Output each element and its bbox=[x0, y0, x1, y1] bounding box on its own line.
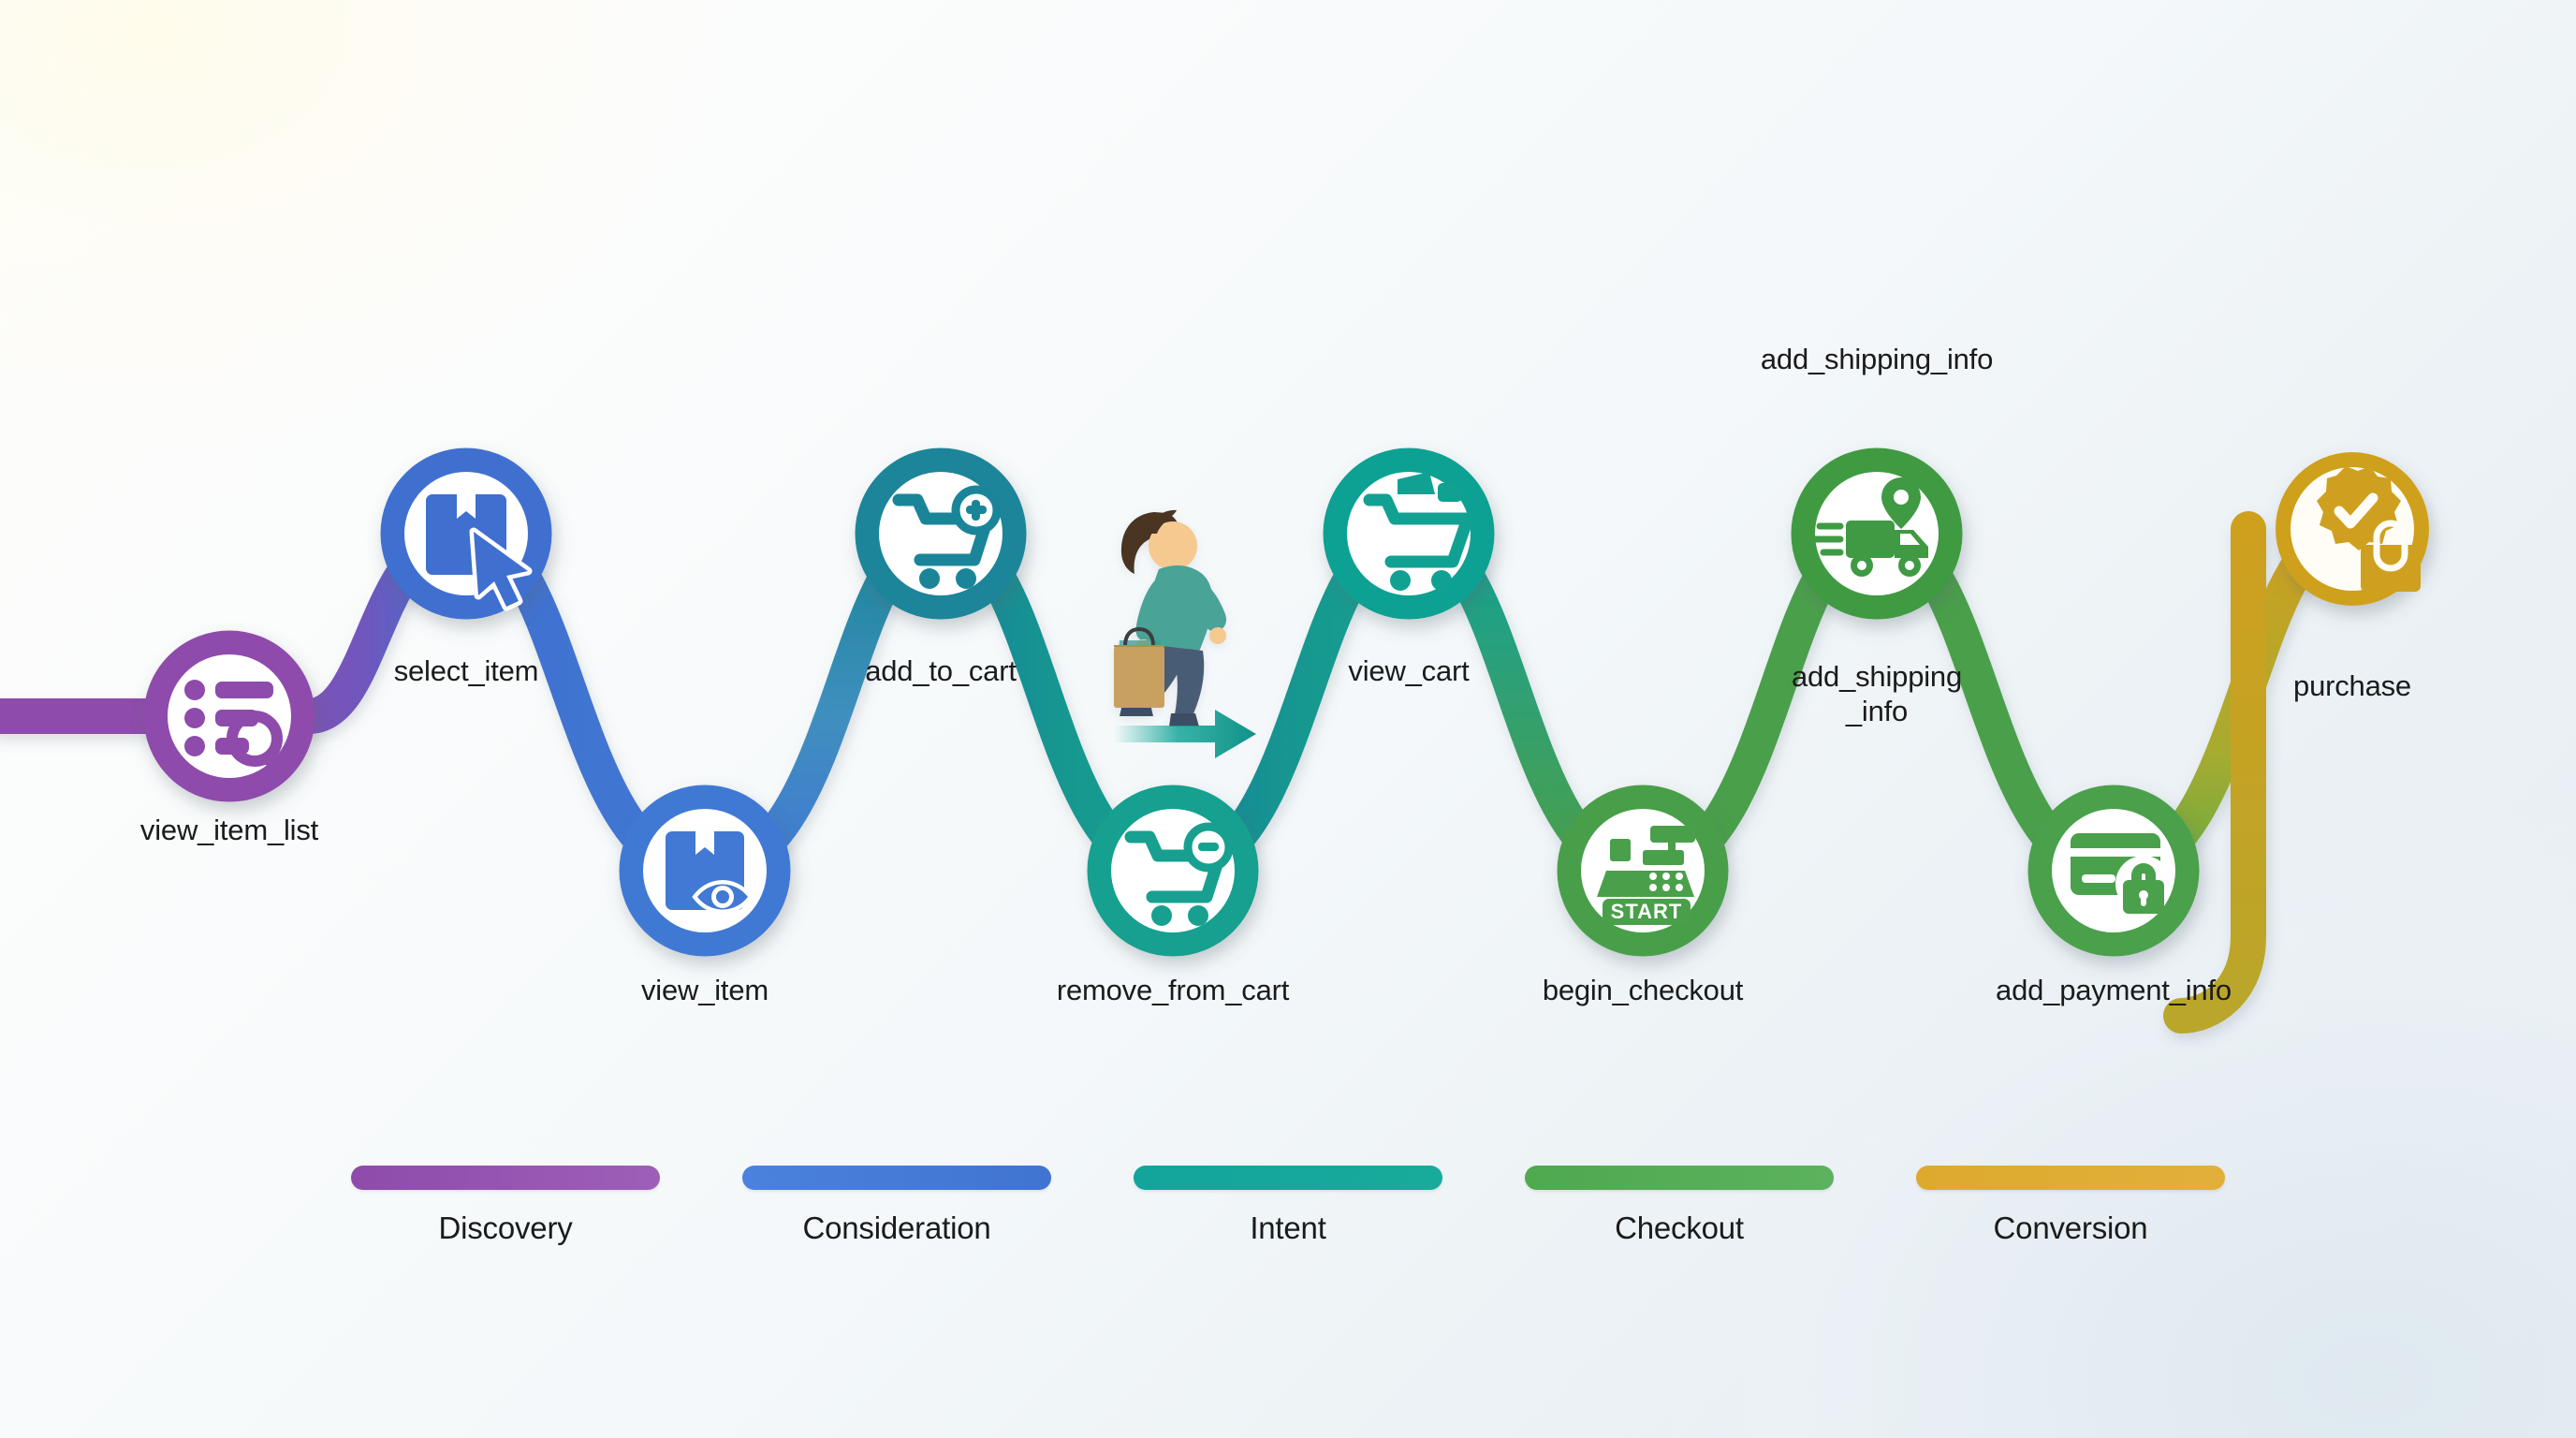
label-add-shipping-info-above: add_shipping_info bbox=[1690, 343, 2064, 377]
legend-swatch-discovery bbox=[351, 1166, 660, 1190]
legend-label-checkout: Checkout bbox=[1615, 1211, 1744, 1246]
node-remove-from-cart[interactable] bbox=[1100, 798, 1246, 944]
legend-item-conversion[interactable]: Conversion bbox=[1875, 1166, 2266, 1246]
legend-swatch-conversion bbox=[1916, 1166, 2225, 1190]
label-add-to-cart: add_to_cart bbox=[754, 654, 1128, 689]
legend-label-discovery: Discovery bbox=[438, 1211, 572, 1246]
label-add-payment-info: add_payment_info bbox=[1926, 974, 2301, 1008]
label-select-item: select_item bbox=[316, 654, 616, 689]
legend-swatch-intent bbox=[1134, 1166, 1442, 1190]
legend-item-consideration[interactable]: Consideration bbox=[701, 1166, 1092, 1246]
legend-item-discovery[interactable]: Discovery bbox=[310, 1166, 701, 1246]
legend-swatch-consideration bbox=[742, 1166, 1051, 1190]
stage-legend: Discovery Consideration Intent Checkout … bbox=[0, 1166, 2576, 1246]
label-remove-from-cart: remove_from_cart bbox=[986, 974, 1360, 1008]
legend-swatch-checkout bbox=[1525, 1166, 1834, 1190]
legend-item-intent[interactable]: Intent bbox=[1092, 1166, 1484, 1246]
label-add-shipping-info-below-line2: _info bbox=[1736, 695, 2017, 729]
label-begin-checkout: begin_checkout bbox=[1456, 974, 1830, 1008]
legend-label-intent: Intent bbox=[1250, 1211, 1325, 1246]
label-view-cart: view_cart bbox=[1222, 654, 1596, 689]
svg-text:START: START bbox=[1611, 900, 1683, 923]
label-add-shipping-info-below-line1: add_shipping bbox=[1736, 660, 2017, 695]
legend-label-conversion: Conversion bbox=[1994, 1211, 2148, 1246]
walking-shopper bbox=[1114, 510, 1226, 726]
box-eye-icon bbox=[666, 831, 748, 910]
label-view-item: view_item bbox=[518, 974, 892, 1008]
legend-label-consideration: Consideration bbox=[802, 1211, 990, 1246]
legend-item-checkout[interactable]: Checkout bbox=[1484, 1166, 1875, 1246]
node-add-to-cart[interactable] bbox=[868, 461, 1014, 607]
label-view-item-list: view_item_list bbox=[42, 814, 417, 848]
infographic-canvas: START bbox=[0, 0, 2576, 1438]
label-purchase: purchase bbox=[2165, 669, 2539, 704]
